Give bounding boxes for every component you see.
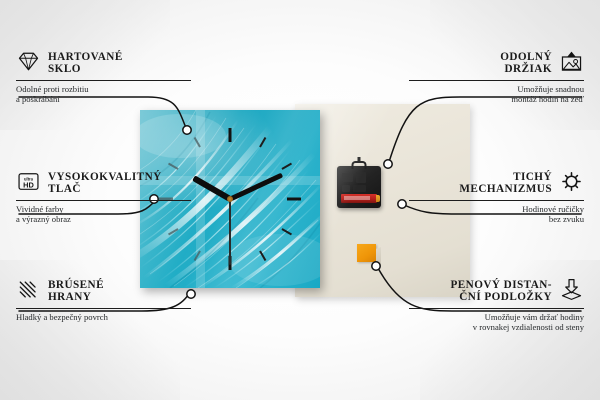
clock-tick-12 [229,128,232,142]
feature-desc-line: v rovnakej vzdialenosti od steny [473,322,584,332]
mechanism-detail [342,185,350,192]
mechanism-detail [353,185,366,192]
clock-tick-2 [281,163,292,170]
press-pad-icon [559,278,584,301]
clock-tick-10 [168,163,179,170]
divider [16,308,191,309]
mechanism-detail [342,173,353,182]
svg-text:HD: HD [23,180,34,189]
feature-title-line: VYSOKOKVALITNÝ [48,171,162,183]
clock-tick-1 [259,137,266,148]
clock-hand-second [229,199,231,265]
feature-title-line: TICHÝ [513,171,552,183]
gear-icon [559,170,584,193]
clock-hand-hour [192,175,231,201]
clock-center-pin [227,196,233,202]
feature-desc-line: Umožňuje snadnou [517,84,584,94]
feature-callout-foam-spacers: PENOVÝ DISTAN- ČNÍ PODLOŽKY Umožňuje vám… [409,278,584,333]
feature-desc-line: montáž hodin na zeď [511,94,584,104]
divider [409,200,584,201]
divider [16,80,191,81]
diamond-icon [16,50,41,73]
clock-tick-5 [259,250,266,261]
feature-callout-silent-mechanism: TICHÝ MECHANIZMUS Hodinové ručičky bez z… [409,170,584,225]
feature-desc-line: Hodinové ručičky [522,204,584,214]
feature-title-line: ČNÍ PODLOŽKY [459,291,552,303]
mechanism-shaft [358,157,361,163]
clock-tick-4 [281,228,292,235]
feature-callout-high-quality-print: ultra HD VYSOKOKVALITNÝ TLAČ Vividné far… [16,170,191,225]
feature-callout-polished-edges: BRÚSENÉ HRANY Hladký a bezpečný povrch [16,278,191,322]
clock-tick-7 [194,250,201,261]
feature-title-line: PENOVÝ DISTAN- [450,279,552,291]
feature-title-line: HARTOVANÉ [48,51,123,63]
clock-tick-8 [168,228,179,235]
feature-title-line: MECHANIZMUS [459,183,552,195]
feature-desc-line: bez zvuku [549,214,584,224]
mechanism-hanger [352,161,367,169]
ultra-hd-icon: ultra HD [16,170,41,193]
mechanism-detail [356,172,366,183]
feature-title-line: DRŽIAK [505,63,552,75]
clock-hand-minute [229,173,283,202]
clock-mechanism [337,166,381,208]
foam-spacer-pad [357,244,376,262]
feature-desc-line: a výrazný obraz [16,214,71,224]
divider [409,308,584,309]
clock-tick-3 [287,198,301,201]
feature-callout-durable-holder: ODOLNÝ DRŽIAK Umožňuje snadnou montáž ho… [409,50,584,105]
feature-title-line: HRANY [48,291,91,303]
feature-desc-line: Vividné farby [16,204,63,214]
feature-title-line: BRÚSENÉ [48,279,104,291]
feature-callout-tempered-glass: HARTOVANÉ SKLO Odolné proti rozbitiu a p… [16,50,191,105]
polished-edges-icon [16,278,41,301]
feature-desc-line: Odolné proti rozbitiu [16,84,89,94]
infographic-canvas: HARTOVANÉ SKLO Odolné proti rozbitiu a p… [0,0,600,400]
divider [16,200,191,201]
feature-title-line: ODOLNÝ [500,51,552,63]
battery-label [344,196,370,200]
feature-title-line: TLAČ [48,183,81,195]
feature-desc-line: a poškrábání [16,94,60,104]
battery [341,194,377,203]
picture-hanger-icon [559,50,584,73]
divider [409,80,584,81]
feature-desc-line: Hladký a bezpečný povrch [16,312,108,322]
feature-desc-line: Umožňuje vám držať hodiny [485,312,584,322]
clock-tick-11 [194,137,201,148]
feature-title-line: SKLO [48,63,81,75]
